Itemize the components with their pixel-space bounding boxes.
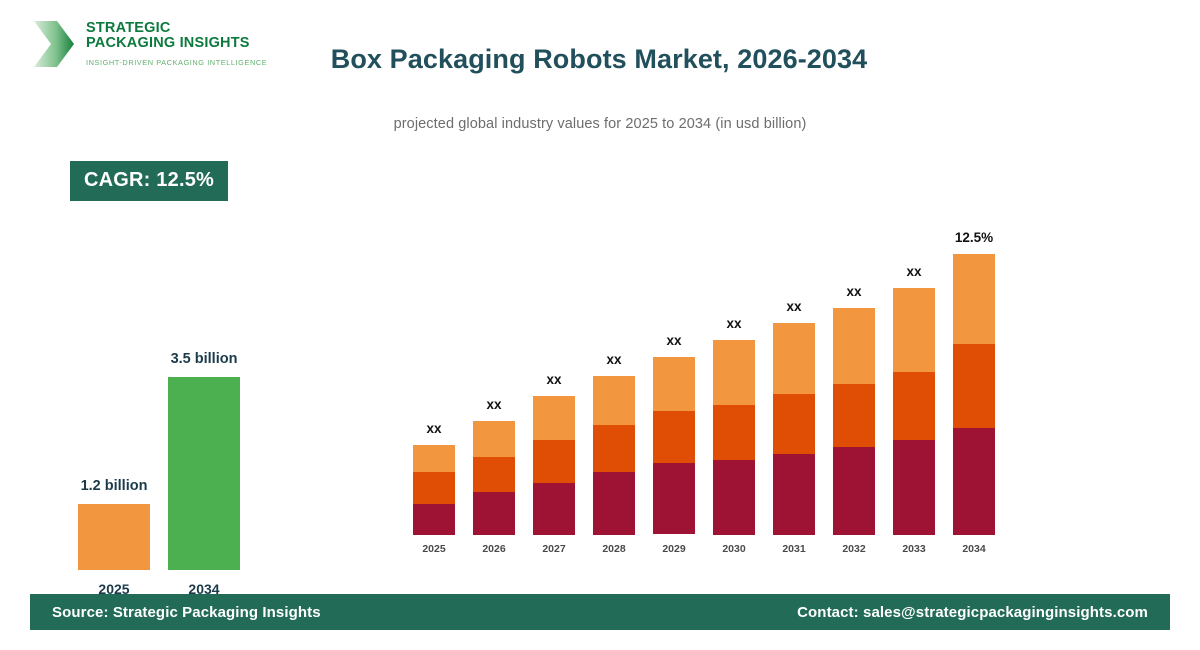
stacked-bar: [533, 396, 575, 535]
stacked-segment: [953, 428, 995, 535]
stacked-segment: [533, 483, 575, 535]
endpoint-comparison-chart: 1.2 billion20253.5 billion2034: [60, 320, 260, 570]
stacked-bar-value-label: xx: [906, 264, 921, 279]
stacked-bar: [473, 421, 515, 535]
stacked-segment: [473, 492, 515, 535]
stacked-bar-value-label: xx: [426, 421, 441, 436]
stacked-segment: [593, 425, 635, 473]
stacked-bar-year-label: 2025: [422, 543, 445, 555]
comparison-column: 1.2 billion2025: [78, 504, 150, 570]
stacked-bar-value-label: xx: [546, 372, 561, 387]
stacked-segment: [653, 411, 695, 463]
stacked-bar: [593, 376, 635, 535]
stacked-segment: [833, 447, 875, 535]
footer-bar: Source: Strategic Packaging Insights Con…: [30, 594, 1170, 630]
stacked-bar: [953, 254, 995, 535]
stacked-segment: [953, 344, 995, 428]
stacked-bar-group: xx2025: [413, 445, 455, 535]
stacked-segment: [893, 440, 935, 535]
stacked-bar-value-label: xx: [846, 284, 861, 299]
stacked-segment: [773, 323, 815, 394]
stacked-bar-value-label: xx: [786, 299, 801, 314]
stacked-segment: [893, 288, 935, 372]
comparison-column: 3.5 billion2034: [168, 377, 240, 570]
stacked-bar-group: xx2031: [773, 323, 815, 535]
stacked-segment: [713, 460, 755, 535]
stacked-segment: [473, 457, 515, 492]
stacked-bar-group: 12.5%2034: [953, 254, 995, 535]
stacked-bar-value-label: 12.5%: [955, 230, 993, 245]
stacked-bar-year-label: 2034: [962, 543, 985, 555]
brand-line-1: STRATEGIC: [86, 21, 267, 36]
stacked-bar-value-label: xx: [666, 333, 681, 348]
footer-source: Source: Strategic Packaging Insights: [52, 604, 321, 621]
stacked-segment: [713, 405, 755, 460]
cagr-badge: CAGR: 12.5%: [70, 161, 228, 201]
stacked-bar-year-label: 2028: [602, 543, 625, 555]
stacked-segment: [893, 372, 935, 441]
stacked-bar: [413, 445, 455, 535]
stacked-bar-group: xx2027: [533, 396, 575, 535]
stacked-segment: [833, 308, 875, 384]
stacked-segment: [653, 463, 695, 534]
stacked-segment: [653, 357, 695, 411]
stacked-bar: [773, 323, 815, 535]
stacked-bar-year-label: 2027: [542, 543, 565, 555]
stacked-bar-group: xx2032: [833, 308, 875, 535]
stacked-segment: [413, 472, 455, 504]
stacked-segment: [413, 504, 455, 535]
stacked-bar-year-label: 2026: [482, 543, 505, 555]
stacked-bar-group: xx2026: [473, 421, 515, 535]
stacked-bar: [833, 308, 875, 535]
stacked-forecast-chart: xx2025xx2026xx2027xx2028xx2029xx2030xx20…: [405, 200, 1005, 535]
stacked-bar: [713, 340, 755, 535]
page-title-text: Box Packaging Robots Market, 2026-2034: [331, 44, 868, 75]
page-title: Box Packaging Robots Market, 2026-2034: [0, 44, 1200, 75]
stacked-bar-group: xx2028: [593, 376, 635, 535]
comparison-value-label: 3.5 billion: [171, 351, 238, 367]
stacked-bar-year-label: 2032: [842, 543, 865, 555]
stacked-segment: [593, 472, 635, 535]
stacked-segment: [413, 445, 455, 472]
stacked-bar-year-label: 2031: [782, 543, 805, 555]
stacked-bar-group: xx2030: [713, 340, 755, 535]
footer-contact: Contact: sales@strategicpackaginginsight…: [797, 604, 1148, 621]
stacked-bar-year-label: 2033: [902, 543, 925, 555]
stacked-segment: [593, 376, 635, 425]
stacked-bar-year-label: 2030: [722, 543, 745, 555]
stacked-segment: [533, 440, 575, 483]
stacked-bar-value-label: xx: [486, 397, 501, 412]
stacked-segment: [773, 394, 815, 454]
stacked-segment: [953, 254, 995, 344]
infographic-canvas: STRATEGIC PACKAGING INSIGHTS INSIGHT-DRI…: [0, 0, 1200, 650]
comparison-value-label: 1.2 billion: [81, 478, 148, 494]
comparison-bar: [168, 377, 240, 570]
stacked-segment: [833, 384, 875, 448]
stacked-bar-group: xx2029: [653, 357, 695, 535]
stacked-bar: [893, 288, 935, 535]
stacked-bar-value-label: xx: [606, 352, 621, 367]
comparison-bar: [78, 504, 150, 570]
stacked-bar-value-label: xx: [726, 316, 741, 331]
stacked-segment: [713, 340, 755, 405]
stacked-segment: [533, 396, 575, 440]
stacked-bar-group: xx2033: [893, 288, 935, 535]
stacked-bar: [653, 357, 695, 535]
stacked-segment: [473, 421, 515, 457]
stacked-bar-year-label: 2029: [662, 543, 685, 555]
page-subtitle: projected global industry values for 202…: [0, 116, 1200, 132]
stacked-segment: [773, 454, 815, 535]
